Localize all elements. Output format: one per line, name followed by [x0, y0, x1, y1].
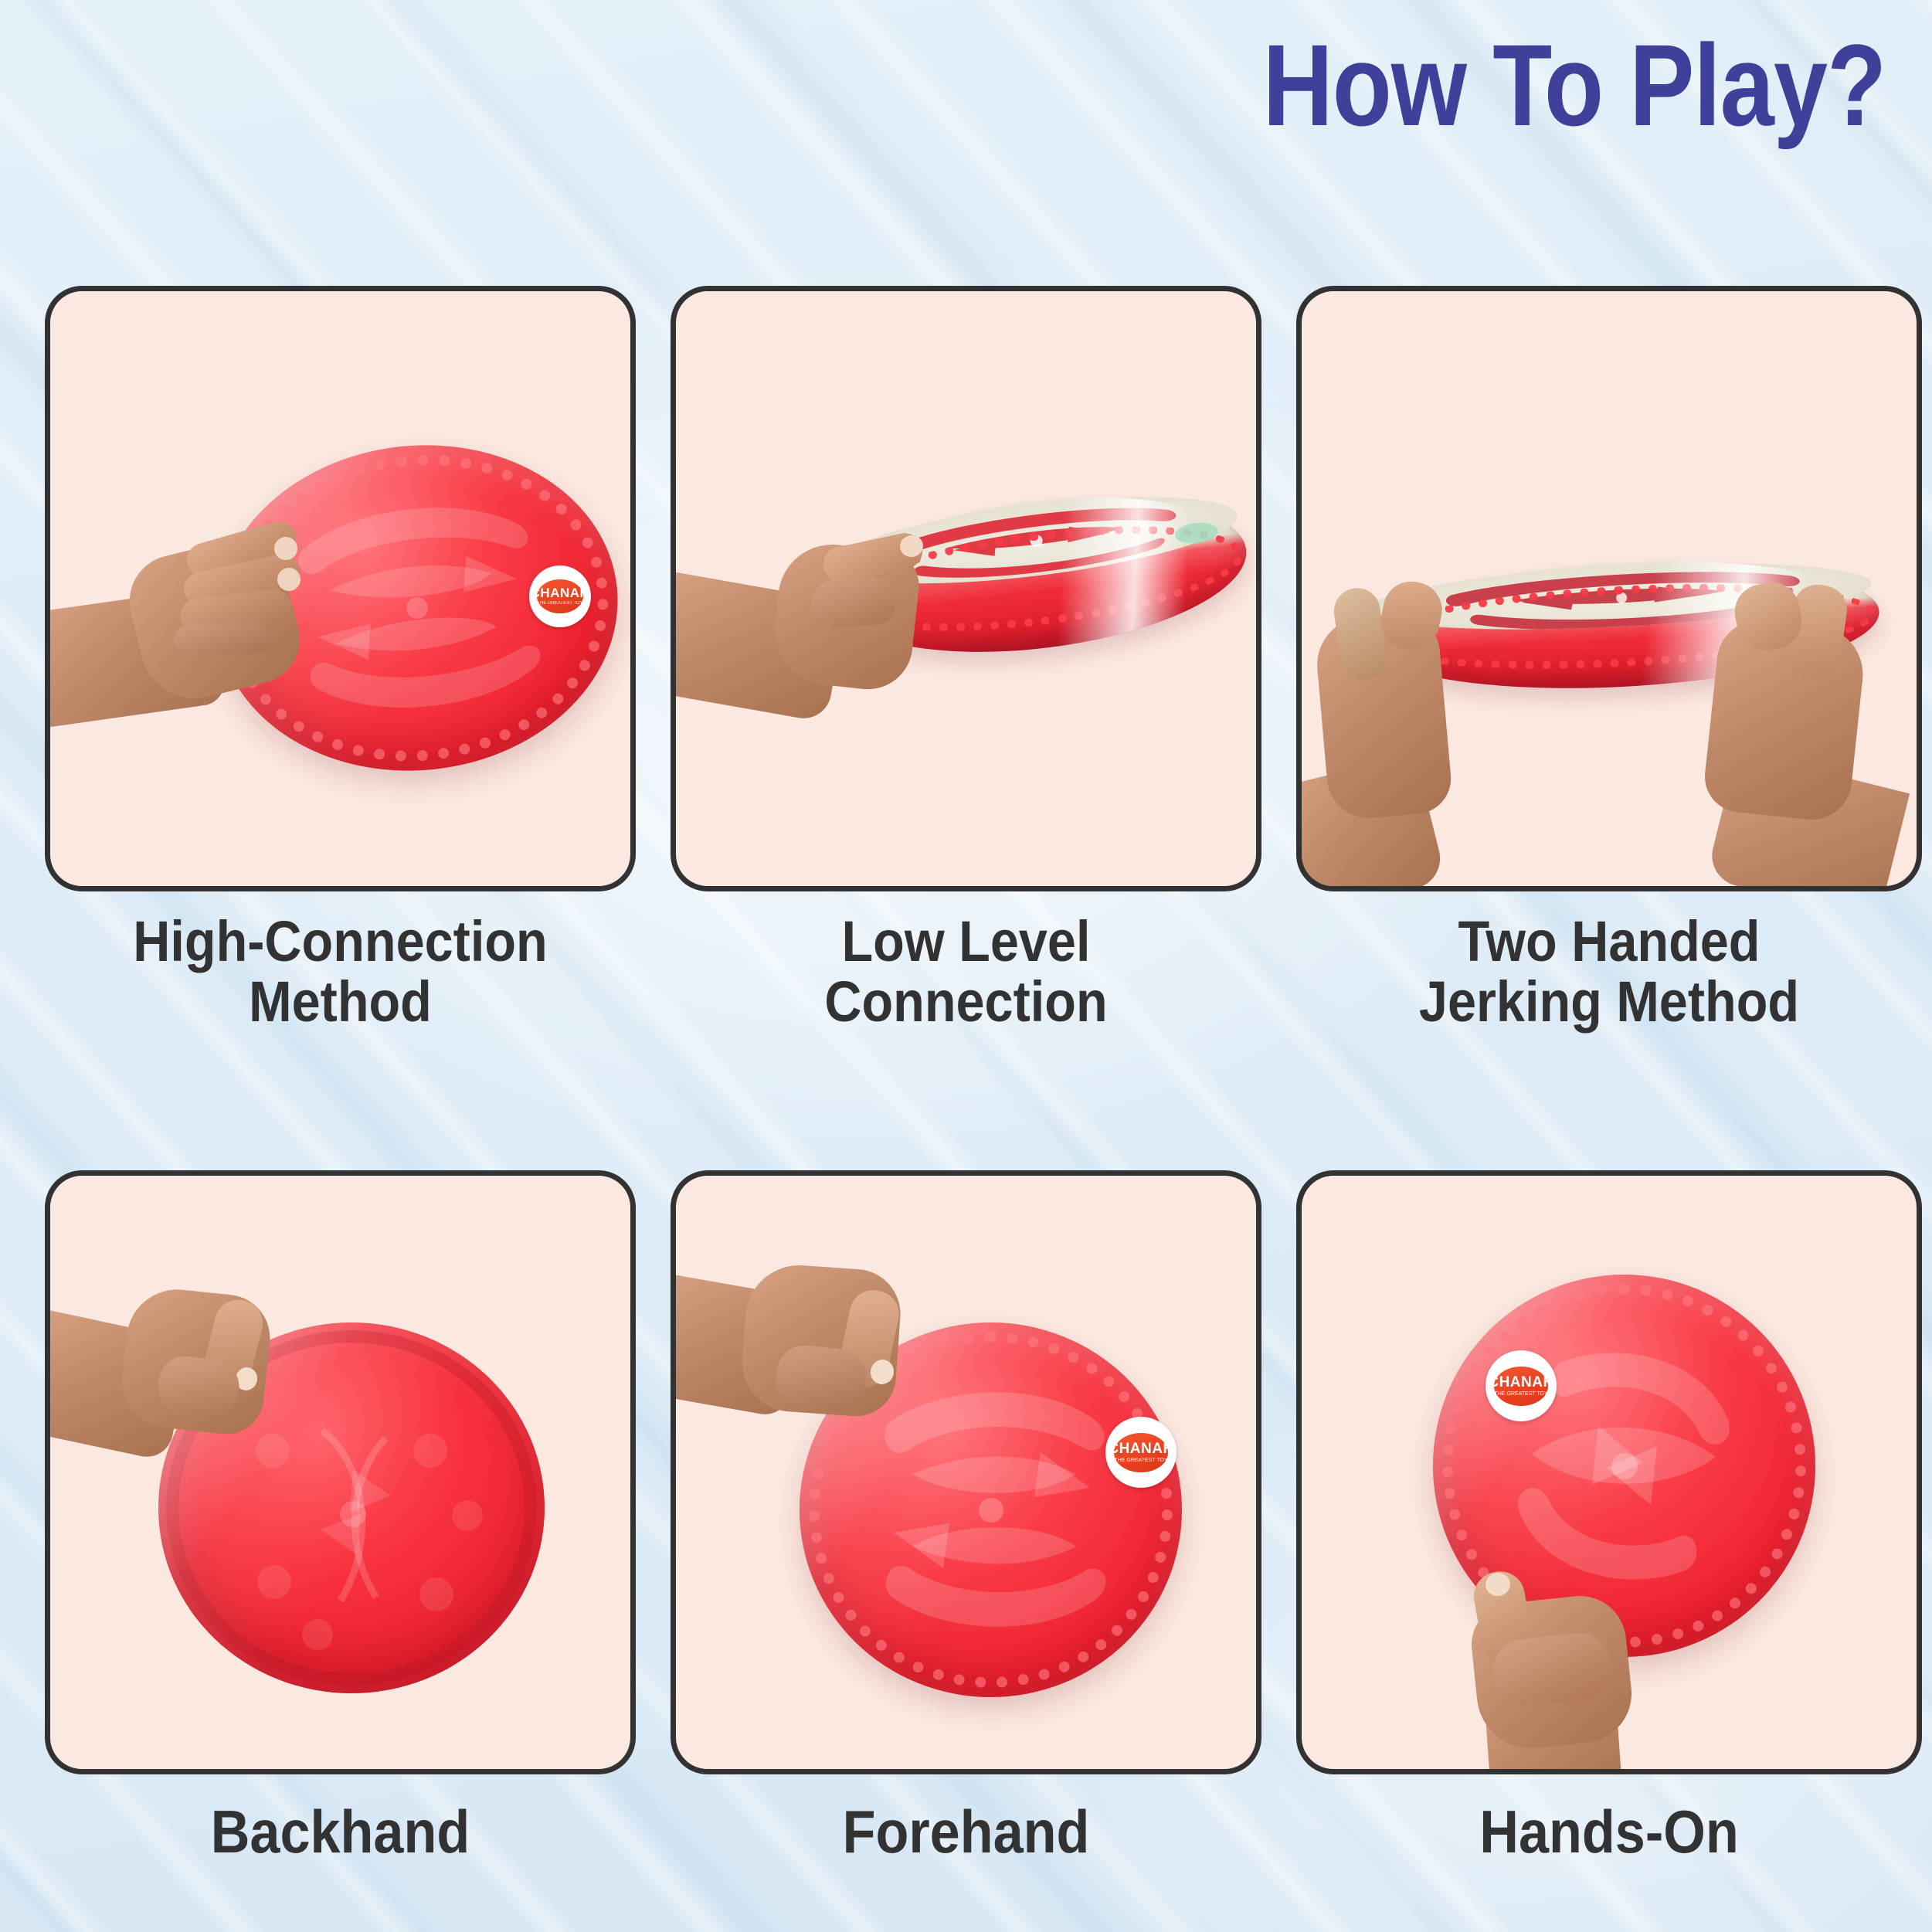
method-label-forehand: Forehand	[700, 1801, 1232, 1864]
method-card-forehand[interactable]: CHANAK THE GREATEST TOY	[671, 1170, 1261, 1774]
brand-name: CHANAK	[531, 586, 590, 599]
method-label-high-connection: High-Connection Method	[74, 912, 606, 1031]
hands-on-illustration: CHANAK THE GREATEST TOY	[1302, 1176, 1917, 1769]
method-label-hands-on: Hands-On	[1328, 1801, 1891, 1864]
method-cell-high-connection: CHANAK THE GREATEST TOY	[45, 286, 636, 1031]
brand-tagline: THE GREATEST TOY	[537, 601, 582, 606]
method-card-backhand[interactable]	[45, 1170, 636, 1774]
brand-tagline: THE GREATEST TOY	[1114, 1458, 1167, 1463]
method-card-two-handed[interactable]	[1296, 286, 1922, 891]
methods-row-top: CHANAK THE GREATEST TOY	[45, 286, 1887, 1031]
method-cell-hands-on: CHANAK THE GREATEST TOY Hands-On	[1296, 1170, 1922, 1864]
method-label-backhand: Backhand	[74, 1801, 606, 1864]
method-label-low-level: Low Level Connection	[700, 912, 1232, 1031]
brand-name: CHANAK	[1488, 1375, 1553, 1390]
how-to-play-poster: How To Play?	[0, 0, 1932, 1932]
method-cell-low-level: Low Level Connection	[671, 286, 1261, 1031]
brand-sticker: CHANAK THE GREATEST TOY	[529, 565, 591, 627]
brand-tagline: THE GREATEST TOY	[1494, 1391, 1547, 1397]
method-card-hands-on[interactable]: CHANAK THE GREATEST TOY	[1296, 1170, 1922, 1774]
two-handed-illustration	[1302, 291, 1917, 886]
methods-row-bottom: Backhand	[45, 1170, 1887, 1864]
method-label-two-handed: Two Handed Jerking Method	[1328, 912, 1891, 1031]
method-cell-two-handed: Two Handed Jerking Method	[1296, 286, 1922, 1031]
method-card-high-connection[interactable]: CHANAK THE GREATEST TOY	[45, 286, 636, 891]
methods-grid: CHANAK THE GREATEST TOY	[45, 286, 1887, 1864]
method-cell-forehand: CHANAK THE GREATEST TOY Forehand	[671, 1170, 1261, 1864]
backhand-illustration	[50, 1176, 630, 1769]
page-title: How To Play?	[1262, 22, 1886, 149]
method-cell-backhand: Backhand	[45, 1170, 636, 1864]
low-level-illustration	[676, 291, 1256, 886]
brand-sticker: CHANAK THE GREATEST TOY	[1486, 1350, 1557, 1421]
forehand-illustration: CHANAK THE GREATEST TOY	[676, 1176, 1256, 1769]
brand-sticker: CHANAK THE GREATEST TOY	[1105, 1417, 1177, 1488]
thumb	[810, 576, 898, 630]
finger-pinky	[173, 622, 271, 656]
method-card-low-level[interactable]	[671, 286, 1261, 891]
high-connection-illustration: CHANAK THE GREATEST TOY	[50, 291, 630, 886]
right-palm	[1701, 616, 1867, 823]
brand-name: CHANAK	[1108, 1441, 1173, 1456]
